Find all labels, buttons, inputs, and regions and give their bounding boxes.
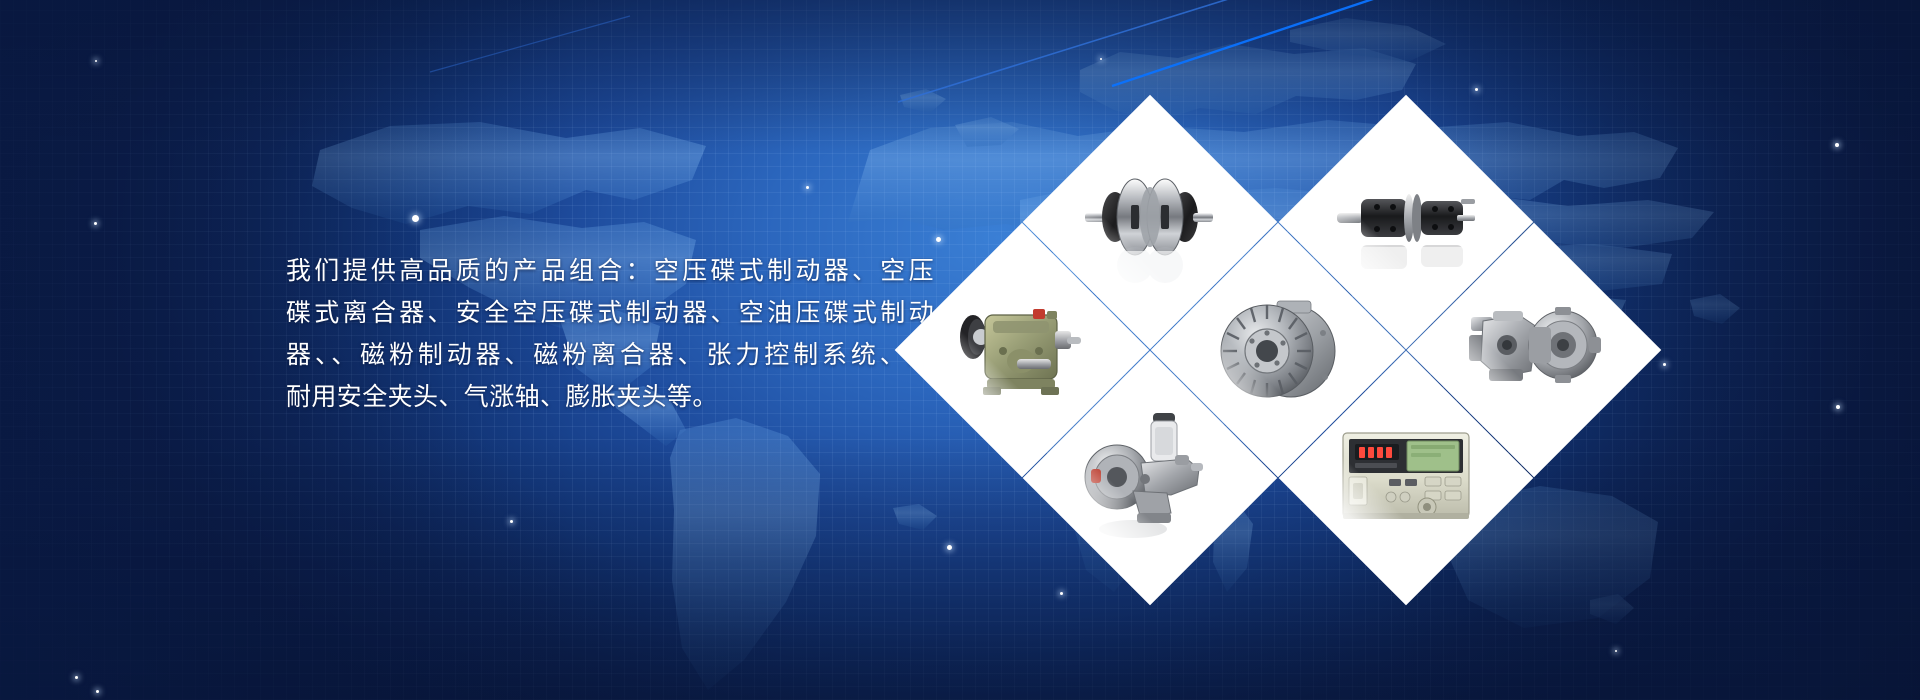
- copy-line-2: 碟式离合器、安全空压碟式制动器、空油压碟式制动: [286, 292, 934, 334]
- star-dot: [94, 222, 97, 225]
- safety-chuck-icon: [1459, 275, 1609, 425]
- pneumatic-disc-brake-icon: [1075, 147, 1225, 297]
- star-dot: [510, 520, 513, 523]
- copy-line-3: 器、、磁粉制动器、磁粉离合器、张力控制系统、超: [286, 334, 934, 376]
- star-dot: [95, 60, 97, 62]
- star-dot: [806, 186, 809, 189]
- star-dot: [1475, 88, 1478, 91]
- star-dot: [936, 237, 941, 242]
- pneumatic-disc-clutch-icon: [1331, 147, 1481, 297]
- star-dot: [412, 215, 419, 222]
- star-dot: [96, 690, 99, 693]
- banner-copy: 我们提供高品质的产品组合：空压碟式制动器、空压 碟式离合器、安全空压碟式制动器、…: [286, 250, 934, 418]
- product-diamond-collage: [1022, 170, 1534, 532]
- star-dot: [1060, 592, 1063, 595]
- star-dot: [75, 676, 78, 679]
- copy-line-4: 耐用安全夹头、气涨轴、膨胀夹头等。: [286, 376, 934, 418]
- star-dot: [1835, 143, 1839, 147]
- copy-line-1: 我们提供高品质的产品组合：空压碟式制动器、空压: [286, 250, 934, 292]
- star-dot: [1100, 58, 1102, 60]
- star-dot: [947, 545, 952, 550]
- star-dot: [1663, 363, 1666, 366]
- star-dot: [1615, 650, 1617, 652]
- tension-controller-icon: [1331, 403, 1481, 553]
- air-shaft-icon: [1075, 403, 1225, 553]
- star-dot: [1836, 405, 1840, 409]
- worm-gear-reducer-icon: [947, 275, 1097, 425]
- magnetic-powder-brake-icon: [1203, 275, 1353, 425]
- hero-banner: 我们提供高品质的产品组合：空压碟式制动器、空压 碟式离合器、安全空压碟式制动器、…: [0, 0, 1920, 700]
